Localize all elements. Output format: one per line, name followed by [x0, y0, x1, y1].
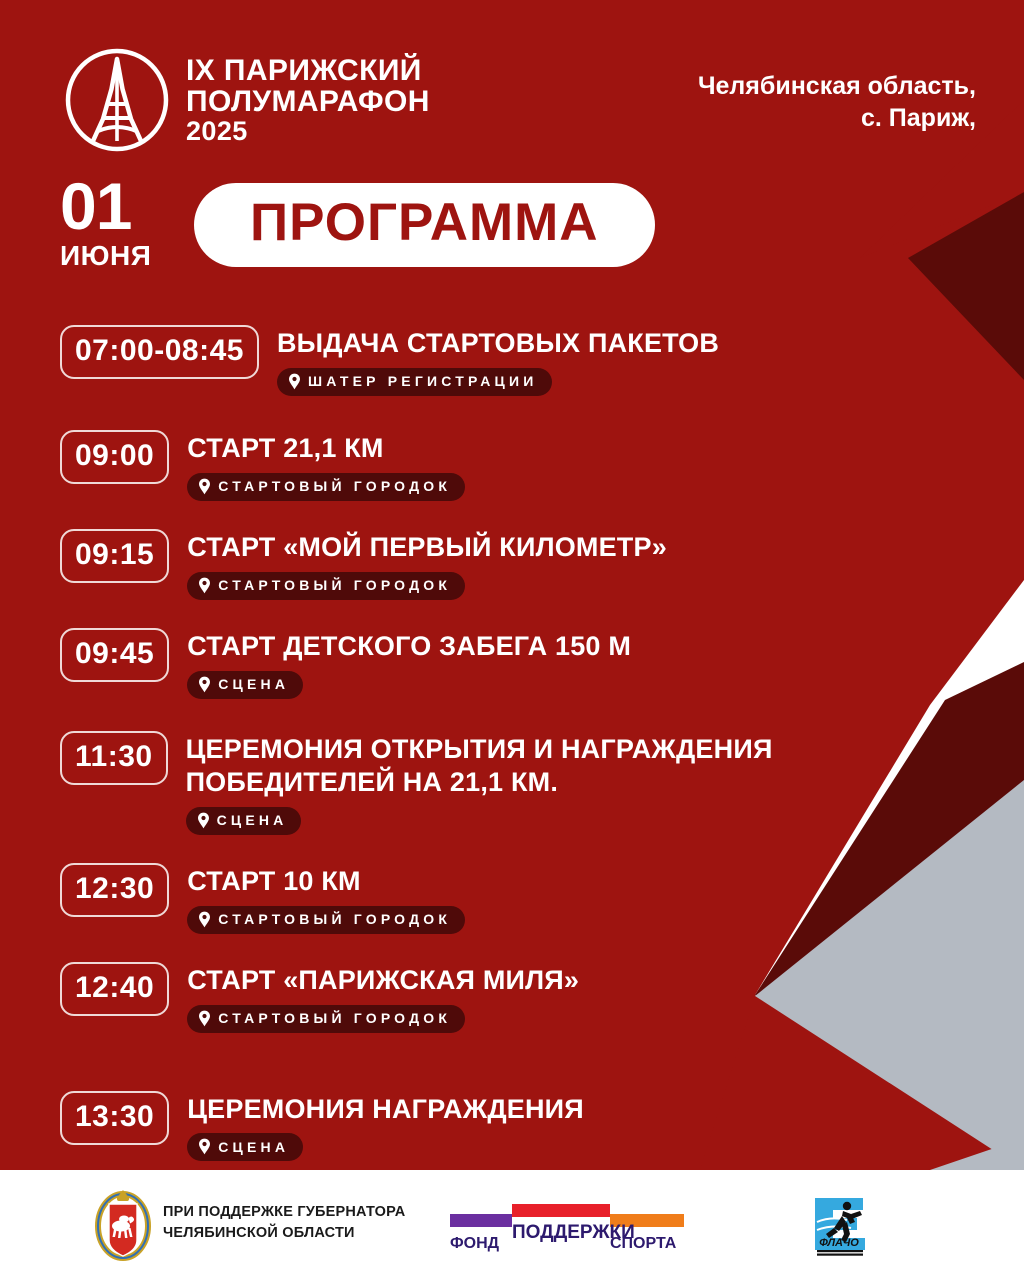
fund-logo: ФОНД ПОДДЕРЖКИ СПОРТА	[448, 1200, 688, 1255]
schedule-location-label: СТАРТОВЫЙ ГОРОДОК	[218, 577, 451, 593]
map-pin-icon	[288, 373, 301, 390]
schedule-row: 11:30ЦЕРЕМОНИЯ ОТКРЫТИЯ И НАГРАЖДЕНИЯ ПО…	[60, 731, 790, 835]
schedule-location-badge: СТАРТОВЫЙ ГОРОДОК	[187, 906, 465, 934]
schedule-location-label: СЦЕНА	[218, 676, 289, 692]
footer-gray-corner	[930, 1138, 1024, 1170]
schedule-location-badge: СТАРТОВЫЙ ГОРОДОК	[187, 1005, 465, 1033]
schedule-row: 09:00СТАРТ 21,1 КМСТАРТОВЫЙ ГОРОДОК	[60, 430, 790, 501]
schedule-time-badge: 09:00	[60, 430, 169, 484]
schedule-time-badge: 12:40	[60, 962, 169, 1016]
programme-heading: ПРОГРАММА	[194, 183, 655, 267]
chevron-dark-upper	[908, 192, 1024, 380]
page-header: IX ПАРИЖСКИЙ ПОЛУМАРАФОН 2025 Челябинска…	[0, 0, 1024, 160]
date-month: ИЮНЯ	[60, 240, 170, 272]
schedule-time-badge: 12:30	[60, 863, 169, 917]
schedule-location-badge: СТАРТОВЫЙ ГОРОДОК	[187, 473, 465, 501]
page-footer: ПРИ ПОДДЕРЖКЕ ГУБЕРНАТОРА ЧЕЛЯБИНСКОЙ ОБ…	[0, 1170, 1024, 1280]
chelyabinsk-coat-of-arms-icon	[95, 1184, 151, 1262]
map-pin-icon	[198, 577, 211, 594]
schedule-row-body: СТАРТ «ПАРИЖСКАЯ МИЛЯ»СТАРТОВЫЙ ГОРОДОК	[187, 962, 579, 1033]
eiffel-tower-circle-icon	[62, 45, 172, 155]
map-pin-icon	[198, 911, 211, 928]
chevron-white-middle	[755, 580, 1024, 1060]
event-date: 01 ИЮНЯ	[60, 178, 170, 272]
schedule-location-badge: СЦЕНА	[187, 1133, 303, 1161]
venue-line-2: с. Париж,	[698, 102, 976, 134]
schedule-row-body: ЦЕРЕМОНИЯ ОТКРЫТИЯ И НАГРАЖДЕНИЯ ПОБЕДИТ…	[186, 731, 790, 835]
schedule-list: 07:00-08:45ВЫДАЧА СТАРТОВЫХ ПАКЕТОВШАТЕР…	[60, 325, 790, 1161]
schedule-row: 13:30ЦЕРЕМОНИЯ НАГРАЖДЕНИЯСЦЕНА	[60, 1091, 790, 1162]
footer-government-support: ПРИ ПОДДЕРЖКЕ ГУБЕРНАТОРА ЧЕЛЯБИНСКОЙ ОБ…	[95, 1184, 405, 1262]
schedule-row: 12:30СТАРТ 10 КМСТАРТОВЫЙ ГОРОДОК	[60, 863, 790, 934]
schedule-row-body: СТАРТ 10 КМСТАРТОВЫЙ ГОРОДОК	[187, 863, 465, 934]
map-pin-icon	[198, 676, 211, 693]
svg-text:ФЛАЧО: ФЛАЧО	[819, 1237, 859, 1249]
schedule-time-badge: 11:30	[60, 731, 168, 785]
schedule-row: 09:15СТАРТ «МОЙ ПЕРВЫЙ КИЛОМЕТР»СТАРТОВЫ…	[60, 529, 790, 600]
date-day: 01	[60, 178, 170, 234]
map-pin-icon	[197, 812, 210, 829]
svg-text:СПОРТА: СПОРТА	[610, 1235, 677, 1252]
schedule-event-title: СТАРТ 10 КМ	[187, 865, 465, 898]
schedule-location-badge: СЦЕНА	[186, 807, 302, 835]
schedule-row-body: ЦЕРЕМОНИЯ НАГРАЖДЕНИЯСЦЕНА	[187, 1091, 584, 1162]
schedule-event-title: ЦЕРЕМОНИЯ ОТКРЫТИЯ И НАГРАЖДЕНИЯ ПОБЕДИТ…	[186, 733, 790, 799]
schedule-event-title: СТАРТ 21,1 КМ	[187, 432, 465, 465]
brand-title: IX ПАРИЖСКИЙ ПОЛУМАРАФОН 2025	[186, 55, 430, 145]
schedule-event-title: СТАРТ ДЕТСКОГО ЗАБЕГА 150 М	[187, 630, 631, 663]
schedule-event-title: СТАРТ «ПАРИЖСКАЯ МИЛЯ»	[187, 964, 579, 997]
venue-line-1: Челябинская область,	[698, 70, 976, 102]
schedule-location-label: СЦЕНА	[218, 1139, 289, 1155]
brand-block: IX ПАРИЖСКИЙ ПОЛУМАРАФОН 2025	[62, 45, 430, 155]
schedule-row: 09:45СТАРТ ДЕТСКОГО ЗАБЕГА 150 МСЦЕНА	[60, 628, 790, 699]
map-pin-icon	[198, 1138, 211, 1155]
chevron-gray-lower-2	[755, 996, 1024, 1170]
schedule-location-badge: СТАРТОВЫЙ ГОРОДОК	[187, 572, 465, 600]
svg-text:ФОНД: ФОНД	[450, 1235, 500, 1252]
schedule-time-badge: 09:15	[60, 529, 169, 583]
flacho-logo: ФЛАЧО	[795, 1192, 891, 1262]
title-row: 01 ИЮНЯ ПРОГРАММА	[60, 178, 655, 272]
brand-line-3: 2025	[186, 117, 430, 145]
schedule-row: 12:40СТАРТ «ПАРИЖСКАЯ МИЛЯ»СТАРТОВЫЙ ГОР…	[60, 962, 790, 1033]
schedule-location-label: СТАРТОВЫЙ ГОРОДОК	[218, 1010, 451, 1026]
schedule-row-body: СТАРТ ДЕТСКОГО ЗАБЕГА 150 МСЦЕНА	[187, 628, 631, 699]
schedule-time-badge: 13:30	[60, 1091, 169, 1145]
schedule-time-badge: 07:00-08:45	[60, 325, 259, 379]
schedule-location-label: ШАТЕР РЕГИСТРАЦИИ	[308, 373, 538, 389]
venue-location: Челябинская область, с. Париж,	[698, 70, 976, 134]
schedule-row-body: СТАРТ «МОЙ ПЕРВЫЙ КИЛОМЕТР»СТАРТОВЫЙ ГОР…	[187, 529, 667, 600]
gov-line-1: ПРИ ПОДДЕРЖКЕ ГУБЕРНАТОРА	[163, 1202, 405, 1223]
schedule-location-label: СТАРТОВЫЙ ГОРОДОК	[218, 478, 451, 494]
chevron-gray-lower	[755, 780, 1024, 1170]
schedule-row: 07:00-08:45ВЫДАЧА СТАРТОВЫХ ПАКЕТОВШАТЕР…	[60, 325, 790, 396]
schedule-event-title: СТАРТ «МОЙ ПЕРВЫЙ КИЛОМЕТР»	[187, 531, 667, 564]
schedule-event-title: ВЫДАЧА СТАРТОВЫХ ПАКЕТОВ	[277, 327, 719, 360]
schedule-row-body: СТАРТ 21,1 КМСТАРТОВЫЙ ГОРОДОК	[187, 430, 465, 501]
brand-line-1: IX ПАРИЖСКИЙ	[186, 55, 430, 86]
brand-line-2: ПОЛУМАРАФОН	[186, 86, 430, 117]
chevron-dark-lower	[755, 662, 1024, 1000]
schedule-location-badge: СЦЕНА	[187, 671, 303, 699]
map-pin-icon	[198, 1010, 211, 1027]
schedule-location-label: СТАРТОВЫЙ ГОРОДОК	[218, 911, 451, 927]
map-pin-icon	[198, 478, 211, 495]
schedule-event-title: ЦЕРЕМОНИЯ НАГРАЖДЕНИЯ	[187, 1093, 584, 1126]
schedule-row-body: ВЫДАЧА СТАРТОВЫХ ПАКЕТОВШАТЕР РЕГИСТРАЦИ…	[277, 325, 719, 396]
schedule-time-badge: 09:45	[60, 628, 169, 682]
schedule-location-label: СЦЕНА	[217, 812, 288, 828]
gov-line-2: ЧЕЛЯБИНСКОЙ ОБЛАСТИ	[163, 1223, 405, 1244]
schedule-location-badge: ШАТЕР РЕГИСТРАЦИИ	[277, 368, 552, 396]
government-support-text: ПРИ ПОДДЕРЖКЕ ГУБЕРНАТОРА ЧЕЛЯБИНСКОЙ ОБ…	[163, 1202, 405, 1244]
